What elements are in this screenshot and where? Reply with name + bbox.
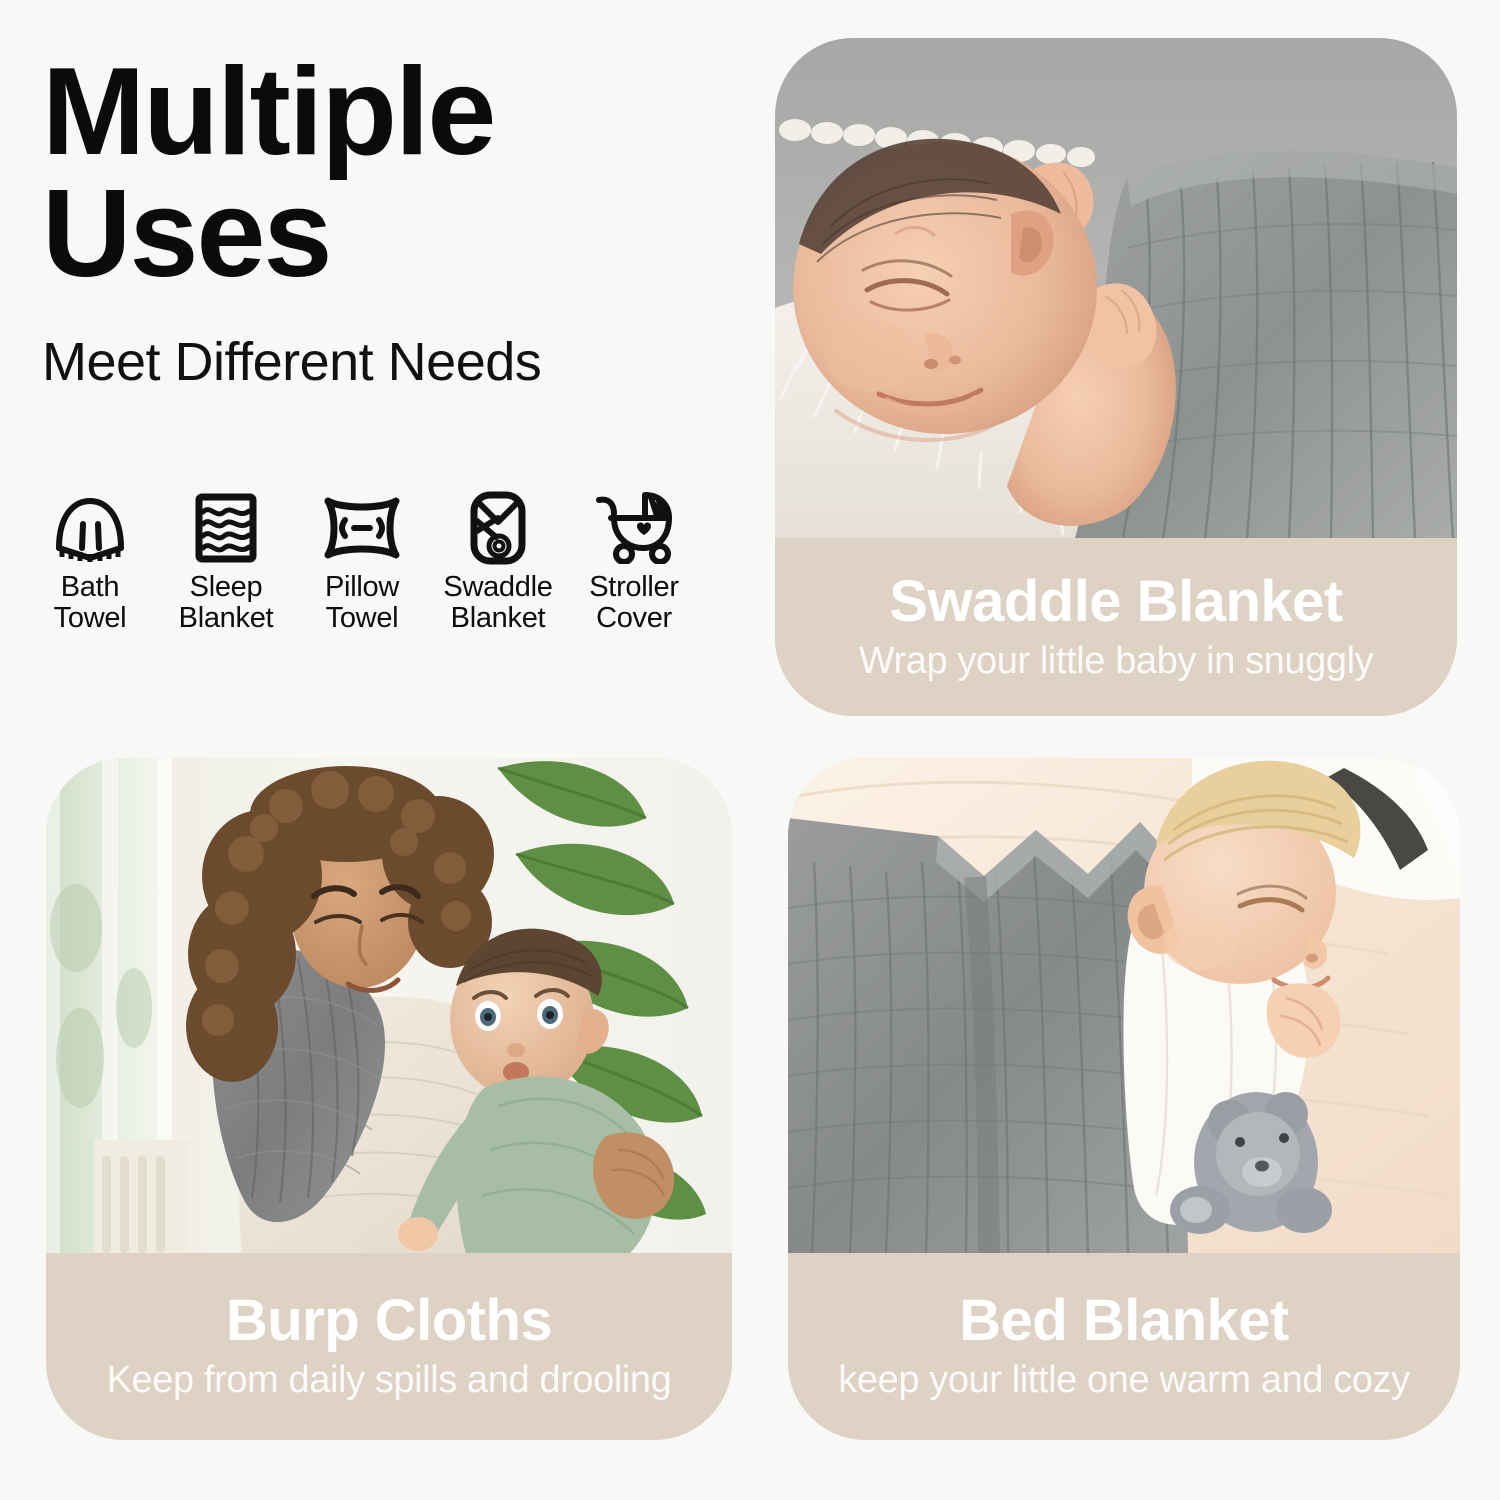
card-swaddle-blanket[interactable]: Swaddle Blanket Wrap your little baby in… (775, 38, 1457, 716)
card-bed-blanket[interactable]: Bed Blanket keep your little one warm an… (788, 758, 1460, 1440)
card-caption-bed: Bed Blanket keep your little one warm an… (788, 1253, 1460, 1440)
pillow-towel-icon (320, 492, 404, 564)
product-feature-page: Multiple Uses Meet Different Needs (0, 0, 1500, 1500)
feature-label: Bath Towel (54, 572, 127, 635)
card-subtitle: keep your little one warm and cozy (788, 1360, 1460, 1402)
swaddle-blanket-icon (468, 492, 528, 564)
card-caption-swaddle: Swaddle Blanket Wrap your little baby in… (775, 538, 1457, 716)
stroller-cover-icon (589, 492, 679, 564)
feature-swaddle-blanket: Swaddle Blanket (430, 492, 566, 635)
feature-icon-row: Bath Towel Sleep Blanket (22, 492, 702, 635)
feature-bath-towel: Bath Towel (22, 492, 158, 635)
hooded-bath-towel-icon (47, 492, 133, 564)
sleep-blanket-icon (193, 492, 259, 564)
card-subtitle: Keep from daily spills and drooling (46, 1360, 732, 1402)
card-photo-bed (788, 758, 1460, 1253)
feature-sleep-blanket: Sleep Blanket (158, 492, 294, 635)
feature-label: Pillow Towel (325, 572, 399, 635)
card-title: Burp Cloths (46, 1291, 732, 1352)
card-photo-burp (46, 758, 732, 1253)
feature-label: Sleep Blanket (179, 572, 274, 635)
card-subtitle: Wrap your little baby in snuggly (775, 641, 1457, 683)
intro-block: Multiple Uses Meet Different Needs (42, 52, 742, 393)
feature-label: Swaddle Blanket (443, 572, 552, 635)
feature-stroller-cover: Stroller Cover (566, 492, 702, 635)
feature-pillow-towel: Pillow Towel (294, 492, 430, 635)
card-title: Bed Blanket (788, 1291, 1460, 1352)
card-title: Swaddle Blanket (775, 572, 1457, 633)
card-photo-swaddle (775, 38, 1457, 538)
page-subtitle: Meet Different Needs (42, 331, 742, 393)
feature-label: Stroller Cover (589, 572, 678, 635)
card-caption-burp: Burp Cloths Keep from daily spills and d… (46, 1253, 732, 1440)
card-burp-cloths[interactable]: Burp Cloths Keep from daily spills and d… (46, 758, 732, 1440)
page-title: Multiple Uses (42, 52, 742, 295)
